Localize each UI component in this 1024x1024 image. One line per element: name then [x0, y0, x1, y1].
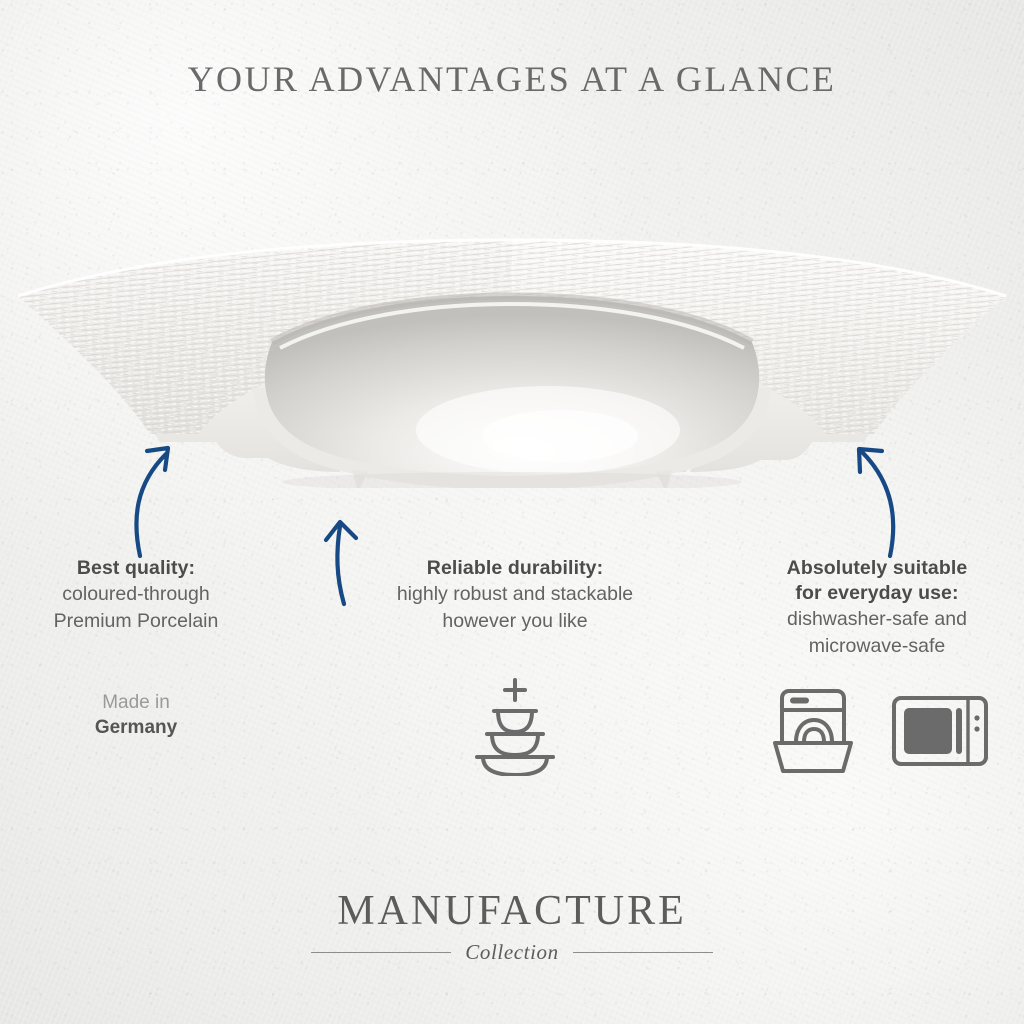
column-body-line-1: highly robust and stackable	[355, 581, 675, 608]
column-body-line-1: dishwasher-safe and	[752, 606, 1002, 633]
infographic-canvas: YOUR ADVANTAGES AT A GLANCE	[0, 0, 1024, 1024]
arrow-to-product-left	[118, 432, 198, 558]
column-heading: Reliable durability:	[355, 556, 675, 581]
advantage-column-reliable-durability: Reliable durability: highly robust and s…	[355, 556, 675, 635]
brand-name: MANUFACTURE	[0, 888, 1024, 934]
microwave-icon	[890, 694, 990, 768]
stackable-bowls-icon	[467, 676, 563, 776]
advantage-column-everyday-use: Absolutely suitable for everyday use: di…	[752, 556, 1002, 660]
column-body-line-1: coloured-through	[8, 581, 264, 608]
column-body-line-2: Premium Porcelain	[8, 608, 264, 635]
column-heading-line-2: for everyday use:	[752, 581, 1002, 606]
divider-right	[573, 952, 713, 953]
divider-left	[311, 952, 451, 953]
advantage-column-best-quality: Best quality: coloured-through Premium P…	[8, 556, 264, 635]
made-in-germany: Made in Germany	[8, 690, 264, 740]
column-heading-line-1: Absolutely suitable	[752, 556, 1002, 581]
brand-logo: MANUFACTURE Collection	[0, 888, 1024, 965]
column-body-line-2: however you like	[355, 608, 675, 635]
arrow-to-product-right	[838, 432, 918, 558]
column-body-line-2: microwave-safe	[752, 633, 1002, 660]
made-in-country: Germany	[8, 715, 264, 740]
dishwasher-icon	[768, 686, 858, 774]
column-heading: Best quality:	[8, 556, 264, 581]
brand-collection-label: Collection	[465, 940, 559, 965]
made-in-label: Made in	[8, 690, 264, 715]
brand-sub-row: Collection	[0, 940, 1024, 965]
page-title: YOUR ADVANTAGES AT A GLANCE	[0, 58, 1024, 100]
